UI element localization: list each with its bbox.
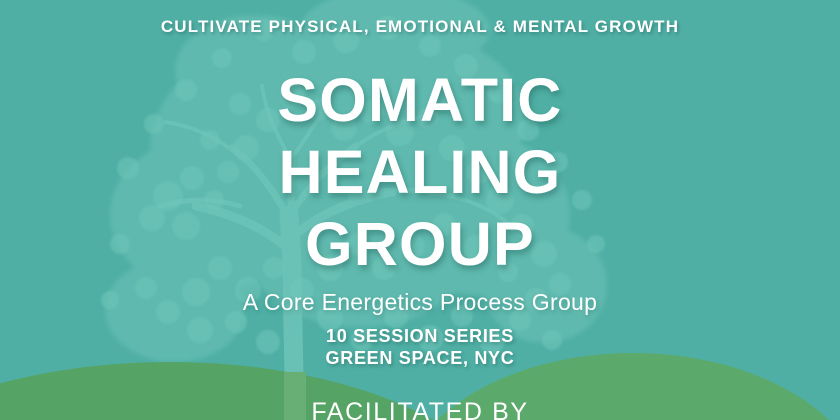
poster-canvas: CULTIVATE PHYSICAL, EMOTIONAL & MENTAL G… xyxy=(0,0,840,420)
poster-content: CULTIVATE PHYSICAL, EMOTIONAL & MENTAL G… xyxy=(0,0,840,420)
facilitated-by-label: FACILITATED BY xyxy=(0,398,840,420)
subtitle: A Core Energetics Process Group xyxy=(0,289,840,316)
headline-line-1: SOMATIC xyxy=(0,64,840,136)
headline-line-3: GROUP xyxy=(0,208,840,280)
tagline: CULTIVATE PHYSICAL, EMOTIONAL & MENTAL G… xyxy=(0,17,840,37)
headline-line-2: HEALING xyxy=(0,136,840,208)
location-detail: GREEN SPACE, NYC xyxy=(0,348,840,369)
session-series-detail: 10 SESSION SERIES xyxy=(0,326,840,347)
